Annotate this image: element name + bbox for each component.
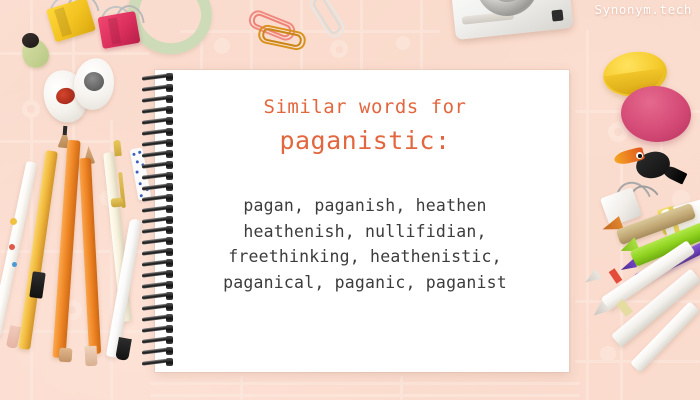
orange-pencil-lead-icon — [63, 126, 68, 135]
screenshot-root: Synonym.tech — [0, 0, 700, 400]
orange-pencil-end-icon — [59, 348, 73, 363]
synonym-line: heathenish, nullifidian, — [175, 219, 555, 245]
spiral-coil — [142, 85, 178, 92]
pink-macaron-icon — [619, 84, 693, 145]
white-marker-1-tip-icon — [582, 269, 602, 288]
spiral-coil — [142, 173, 178, 180]
orange-pencil-small-icon — [79, 158, 101, 354]
white-marker-1-band-icon — [609, 268, 623, 284]
spiral-coil — [142, 74, 178, 81]
ballpoint-pen-band-icon — [111, 197, 124, 207]
card-headword: paganistic: — [180, 126, 550, 156]
spiral-coil — [142, 271, 178, 278]
camera-button-icon — [551, 9, 563, 21]
spiral-coil — [142, 227, 178, 234]
pen-decal-blue-icon — [12, 262, 18, 268]
yellow-binder-clip-icon — [46, 0, 96, 42]
spiral-coil — [142, 304, 178, 311]
yellow-pencil-cap-icon — [29, 271, 45, 299]
spiral-coil — [142, 195, 178, 202]
spiral-coil — [142, 217, 178, 224]
orange-pencil-large-icon — [52, 140, 80, 358]
bird-eraser-head-icon — [22, 33, 39, 48]
synonym-line: pagan, paganish, heathen — [175, 193, 555, 219]
spiral-coil — [142, 238, 178, 245]
spiral-coil — [142, 337, 178, 344]
spiral-coil — [142, 326, 178, 333]
spiral-coil — [142, 129, 178, 136]
ballpoint-pen-plunger-icon — [113, 140, 122, 157]
spiral-coil — [142, 260, 178, 267]
spiral-coil — [142, 249, 178, 256]
spiral-coil — [142, 162, 178, 169]
spiral-coil — [142, 96, 178, 103]
orange-pencil-small-end-icon — [84, 346, 97, 367]
spiral-coil — [142, 282, 178, 289]
spiral-coil — [142, 107, 178, 114]
synonym-line: freethinking, heathenistic, — [175, 244, 555, 270]
white-marker-2-band-icon — [616, 299, 633, 317]
spiral-coil — [142, 293, 178, 300]
site-logo[interactable]: Synonym.tech — [594, 2, 692, 17]
spiral-coil — [142, 359, 178, 366]
spiral-coil — [142, 151, 178, 158]
spiral-coil — [142, 184, 178, 191]
synonym-line: paganical, paganic, paganist — [175, 270, 555, 296]
spiral-coil — [142, 118, 178, 125]
synonym-list: pagan, paganish, heathen heathenish, nul… — [175, 193, 555, 295]
spiral-coil — [142, 315, 178, 322]
spiral-coil — [142, 206, 178, 213]
card-title: Similar words for — [180, 96, 550, 118]
toucan-pupil-icon — [638, 154, 642, 158]
white-marker-pen-cap-icon — [115, 337, 132, 361]
spiral-coil — [142, 348, 178, 355]
spiral-coil — [142, 140, 178, 147]
